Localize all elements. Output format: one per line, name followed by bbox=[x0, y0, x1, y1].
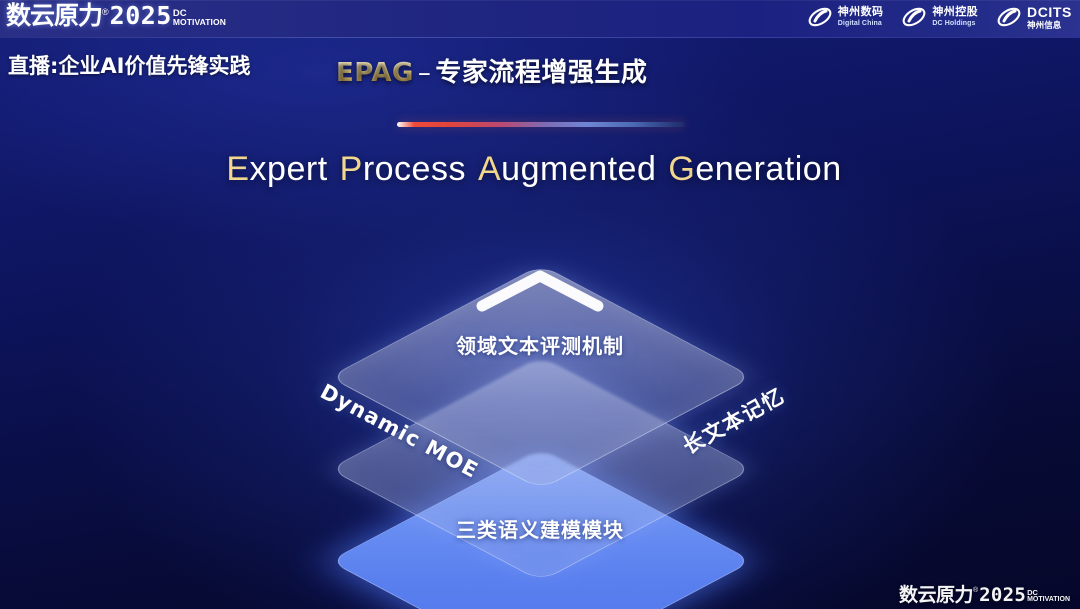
watermark-year: 2025 bbox=[979, 585, 1026, 605]
slide-canvas: 数云原力 ® 2025 DC MOTIVATION 神州数码 Digital C… bbox=[0, 0, 1080, 609]
brand-motivation-text: MOTIVATION bbox=[173, 18, 226, 27]
page-title: EPAG–专家流程增强生成 bbox=[336, 52, 647, 89]
logo-label-cn: 神州信息 bbox=[1027, 21, 1072, 30]
swirl-logo-icon bbox=[807, 5, 833, 29]
subtitle-initial: P bbox=[340, 150, 363, 188]
subtitle-remainder: ugmented bbox=[501, 150, 656, 188]
gradient-divider bbox=[397, 122, 685, 127]
subtitle-word-generation: Generation bbox=[668, 150, 841, 188]
live-stream-label: 直播:企业AI价值先锋实践 bbox=[8, 50, 250, 80]
brand-year: 2025 bbox=[110, 3, 172, 29]
watermark-dc-text: DC bbox=[1027, 589, 1070, 597]
logo-text: 神州控股 DC Holdings bbox=[932, 7, 978, 27]
top-banner: 数云原力 ® 2025 DC MOTIVATION 神州数码 Digital C… bbox=[0, 0, 1080, 38]
partner-logos: 神州数码 Digital China 神州控股 DC Holdings bbox=[807, 5, 1072, 30]
logo-text: DCITS 神州信息 bbox=[1027, 5, 1072, 30]
subtitle-initial: E bbox=[226, 150, 249, 188]
chevron-up-icon bbox=[474, 266, 606, 314]
layered-architecture-diagram: 领域文本评测机制 Dynamic MOE 长文本记忆 三类语义建模模块 bbox=[260, 226, 820, 576]
logo-label-en: DCITS bbox=[1027, 5, 1072, 19]
subtitle-initial: A bbox=[478, 150, 501, 188]
subtitle-remainder: rocess bbox=[363, 150, 466, 188]
brand-lockup: 数云原力 ® 2025 DC MOTIVATION bbox=[6, 3, 226, 29]
title-dash: – bbox=[414, 58, 436, 88]
subtitle-word-augmented: Augmented bbox=[478, 150, 656, 188]
brand-registered-mark: ® bbox=[102, 5, 109, 19]
title-chinese: 专家流程增强生成 bbox=[435, 58, 647, 88]
watermark-motivation-text: MOTIVATION bbox=[1027, 596, 1070, 604]
logo-digital-china[interactable]: 神州数码 Digital China bbox=[807, 5, 884, 29]
watermark-name-cn: 数云原力 bbox=[899, 585, 973, 605]
footer-watermark: 数云原力 ® 2025 DC MOTIVATION bbox=[899, 585, 1070, 605]
logo-dc-holdings[interactable]: 神州控股 DC Holdings bbox=[901, 5, 978, 29]
title-acronym: EPAG bbox=[336, 58, 414, 88]
swirl-logo-icon bbox=[996, 5, 1022, 29]
logo-label-en: Digital China bbox=[838, 20, 884, 27]
logo-dcits[interactable]: DCITS 神州信息 bbox=[996, 5, 1072, 30]
subtitle-expansion: ExpertProcessAugmentedGeneration bbox=[0, 150, 1080, 189]
subtitle-remainder: xpert bbox=[250, 150, 328, 188]
logo-label-en: DC Holdings bbox=[932, 20, 978, 27]
brand-dc-motivation: DC MOTIVATION bbox=[173, 9, 226, 27]
subtitle-word-expert: Expert bbox=[226, 150, 327, 188]
brand-name-cn: 数云原力 bbox=[6, 3, 102, 29]
subtitle-remainder: eneration bbox=[695, 150, 841, 188]
watermark-dc-motivation: DC MOTIVATION bbox=[1027, 589, 1070, 605]
swirl-logo-icon bbox=[901, 5, 927, 29]
watermark-registered-mark: ® bbox=[973, 586, 978, 596]
logo-label-cn: 神州控股 bbox=[932, 7, 978, 18]
subtitle-initial: G bbox=[668, 150, 695, 188]
subtitle-word-process: Process bbox=[340, 150, 466, 188]
logo-label-cn: 神州数码 bbox=[838, 7, 884, 18]
diagram-layer-top[interactable] bbox=[260, 226, 820, 526]
logo-text: 神州数码 Digital China bbox=[838, 7, 884, 27]
